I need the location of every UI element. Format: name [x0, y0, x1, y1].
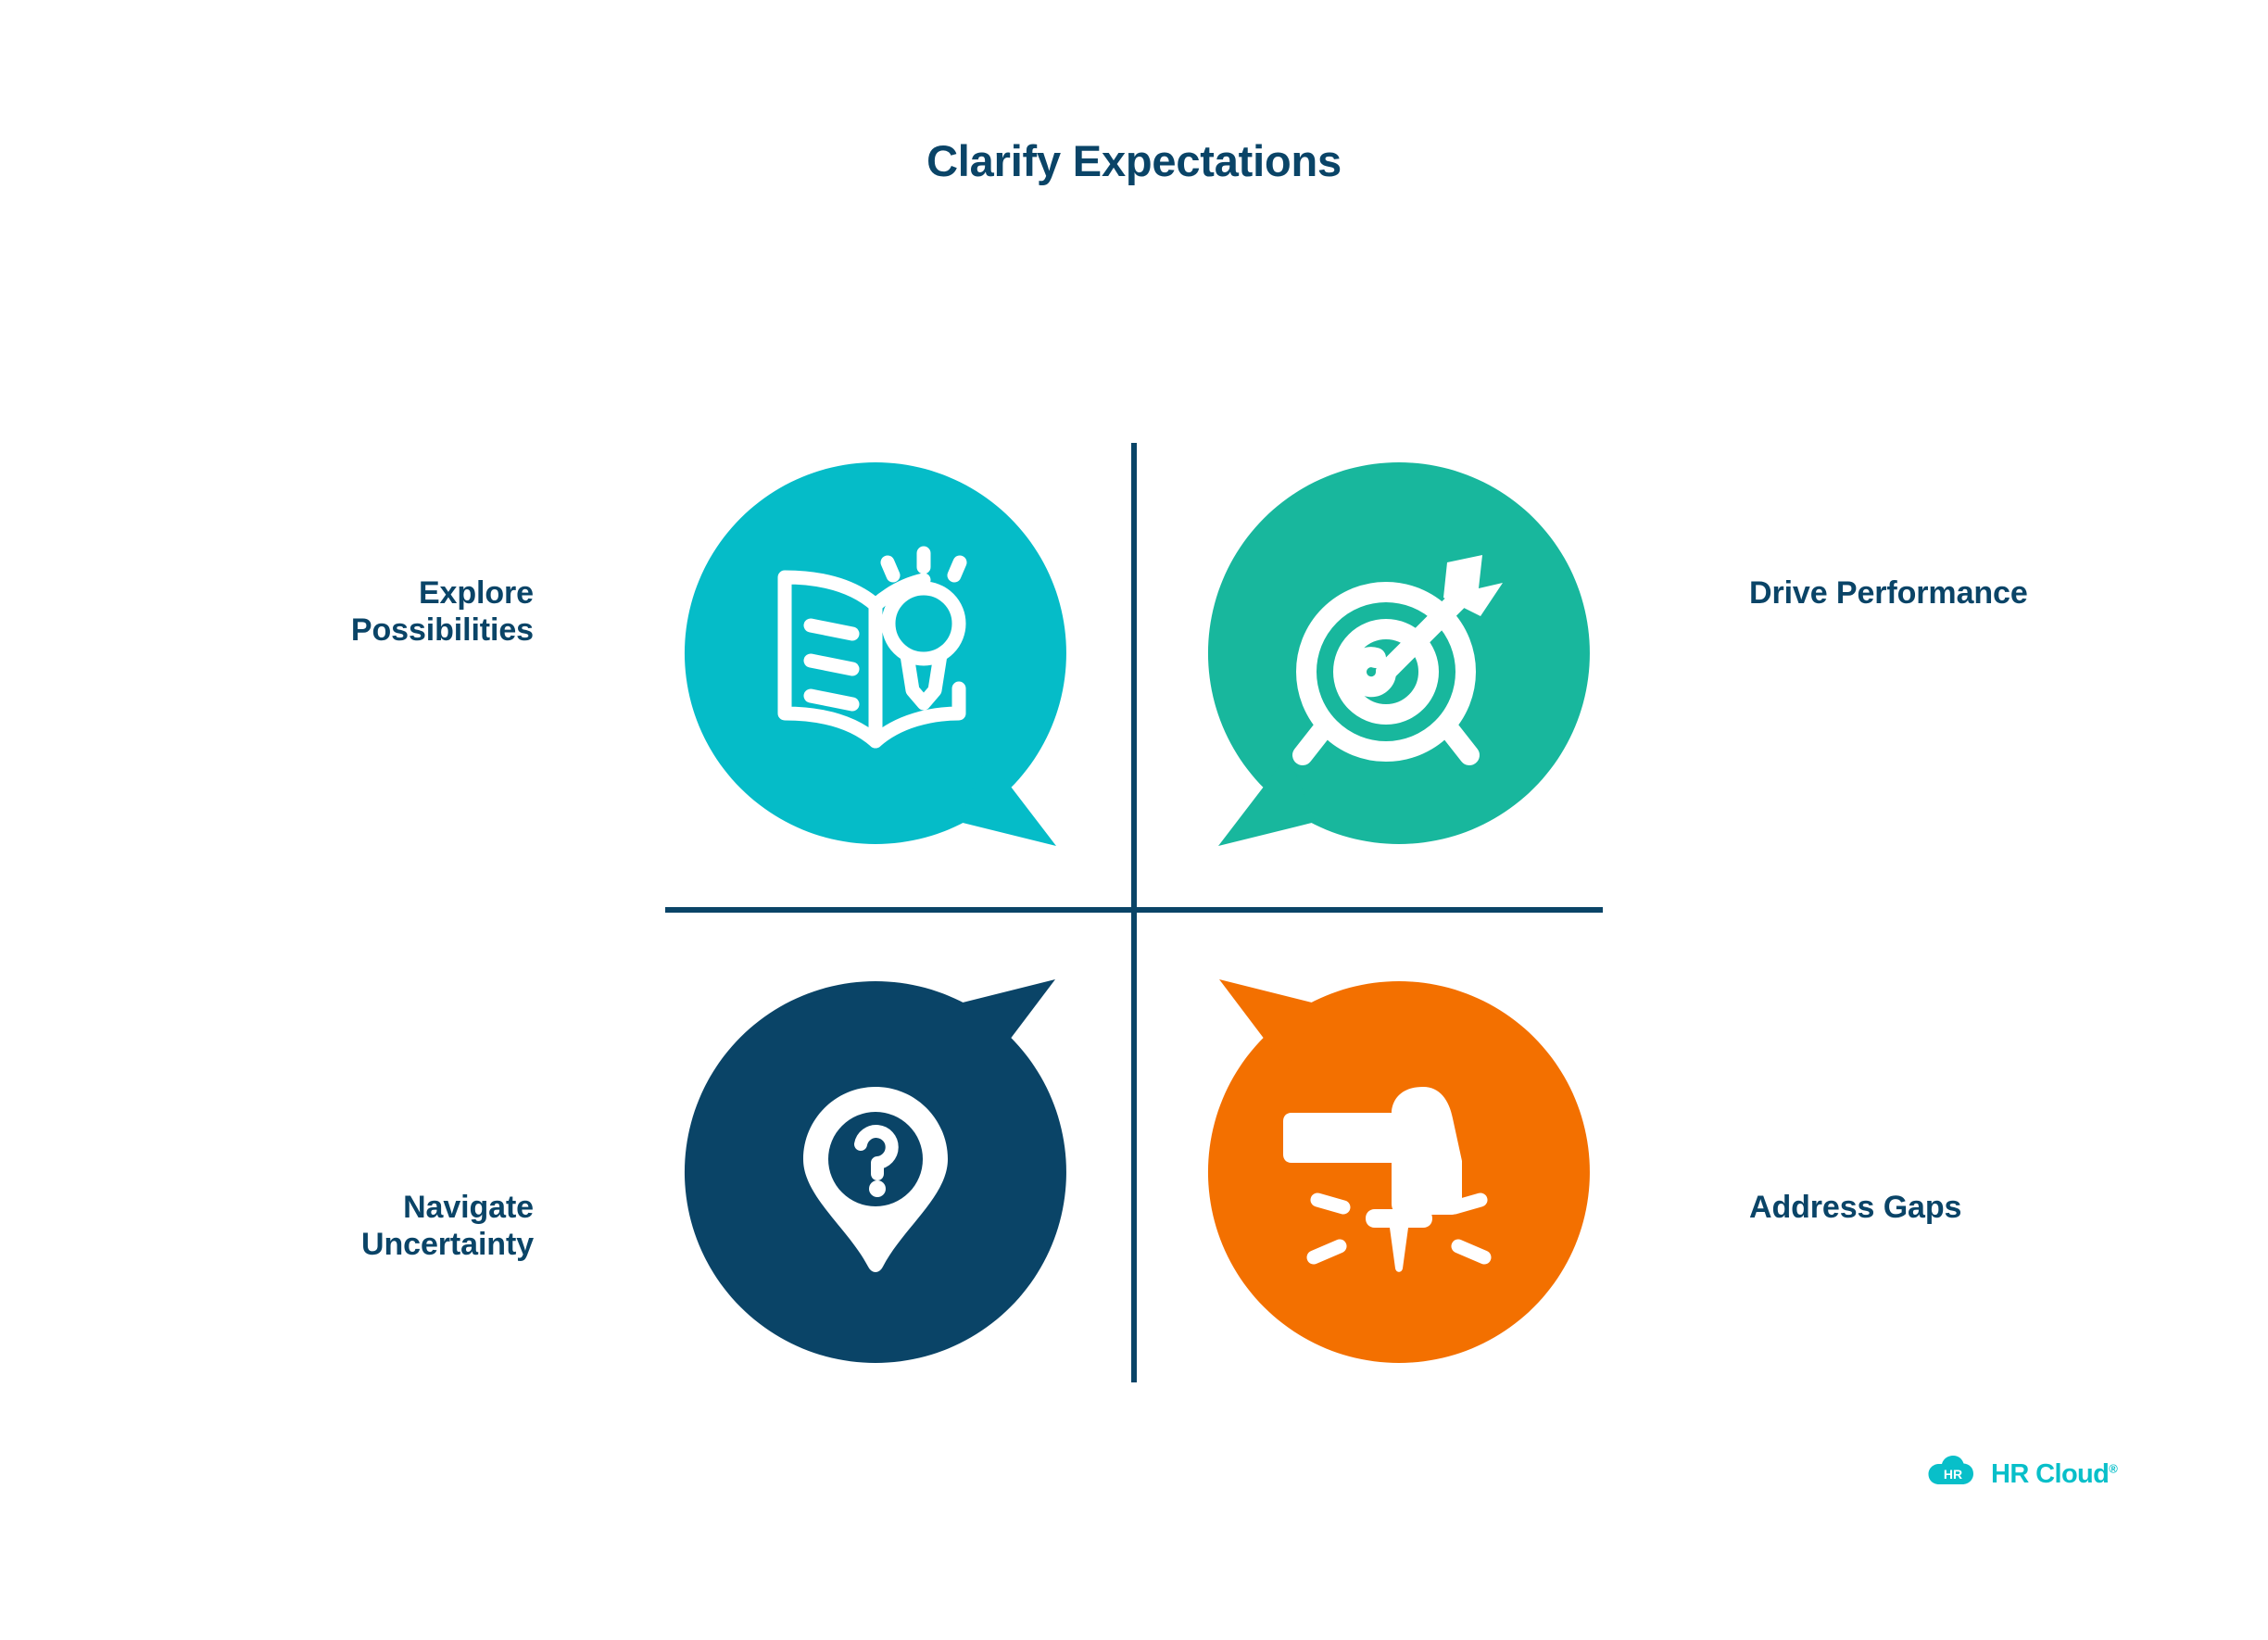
hr-cloud-logo: HR HR Cloud® [1927, 1455, 2117, 1494]
bubble-address-gaps[interactable] [1204, 978, 1594, 1367]
question-mark-dot [869, 1180, 886, 1197]
quadrant-label-explore-possibilities: Explore Possibilities [351, 574, 534, 649]
quadrant-label-address-gaps: Address Gaps [1749, 1189, 1961, 1226]
bubble-navigate-uncertainty[interactable] [681, 978, 1070, 1367]
quadrant-divider-vertical [1131, 443, 1137, 1382]
svg-text:HR: HR [1944, 1467, 1962, 1482]
quadrant-label-drive-performance: Drive Performance [1749, 574, 2028, 612]
bubble-explore-possibilities[interactable] [681, 459, 1070, 848]
quadrant-label-navigate-uncertainty: Navigate Uncertainty [361, 1189, 534, 1263]
cloud-icon: HR [1927, 1455, 1979, 1494]
quadrant-divider-horizontal [665, 907, 1603, 913]
logo-wordmark: HR Cloud® [1991, 1459, 2117, 1490]
logo-wordmark-text: HR Cloud [1991, 1459, 2109, 1489]
bubble-drive-performance[interactable] [1204, 459, 1594, 848]
registered-trademark-symbol: ® [2109, 1461, 2117, 1475]
infographic-canvas: Clarify Expectations [0, 0, 2268, 1640]
page-title: Clarify Expectations [0, 137, 2268, 185]
